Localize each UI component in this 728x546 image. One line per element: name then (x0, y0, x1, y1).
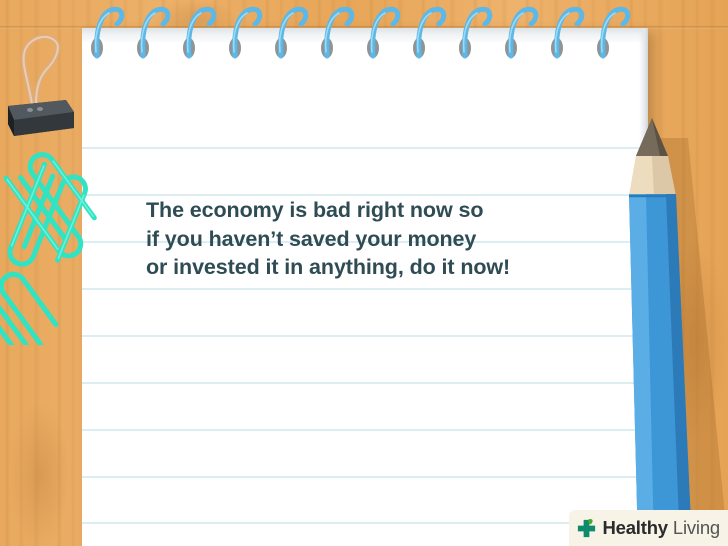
rule-line-6 (82, 429, 648, 431)
logo-brand-light-word: Living (673, 517, 720, 538)
spiral-loop-8 (459, 9, 490, 58)
pencil (592, 104, 728, 546)
spiral-loop-5 (321, 9, 352, 58)
note-scene: The economy is bad right now so if you h… (0, 0, 728, 546)
spiral-loop-9 (505, 9, 536, 58)
note-text: The economy is bad right now so if you h… (146, 196, 606, 282)
spiral-loop-1 (137, 9, 168, 58)
rule-line-8 (82, 522, 648, 524)
paper-clips (0, 130, 114, 345)
notepad (82, 28, 648, 546)
spiral-loop-0 (91, 9, 122, 58)
spiral-loop-4 (275, 9, 306, 58)
spiral-loop-11 (597, 9, 628, 58)
spiral-loop-3 (229, 9, 260, 58)
spiral-loop-7 (413, 9, 444, 58)
spiral-binding (0, 0, 728, 80)
logo-brand-bold: Healthy (602, 517, 667, 538)
spiral-loop-10 (551, 9, 582, 58)
rule-line-0 (82, 147, 648, 149)
green-cross-leaf-icon (575, 517, 598, 540)
spiral-loop-2 (183, 9, 214, 58)
healthy-living-logo: Healthy Living (569, 510, 728, 546)
rule-line-3 (82, 288, 648, 290)
rule-line-7 (82, 476, 648, 478)
binder-clip (2, 22, 82, 147)
wood-knot (10, 400, 70, 546)
rule-line-5 (82, 382, 648, 384)
rule-line-4 (82, 335, 648, 337)
spiral-loop-6 (367, 9, 398, 58)
